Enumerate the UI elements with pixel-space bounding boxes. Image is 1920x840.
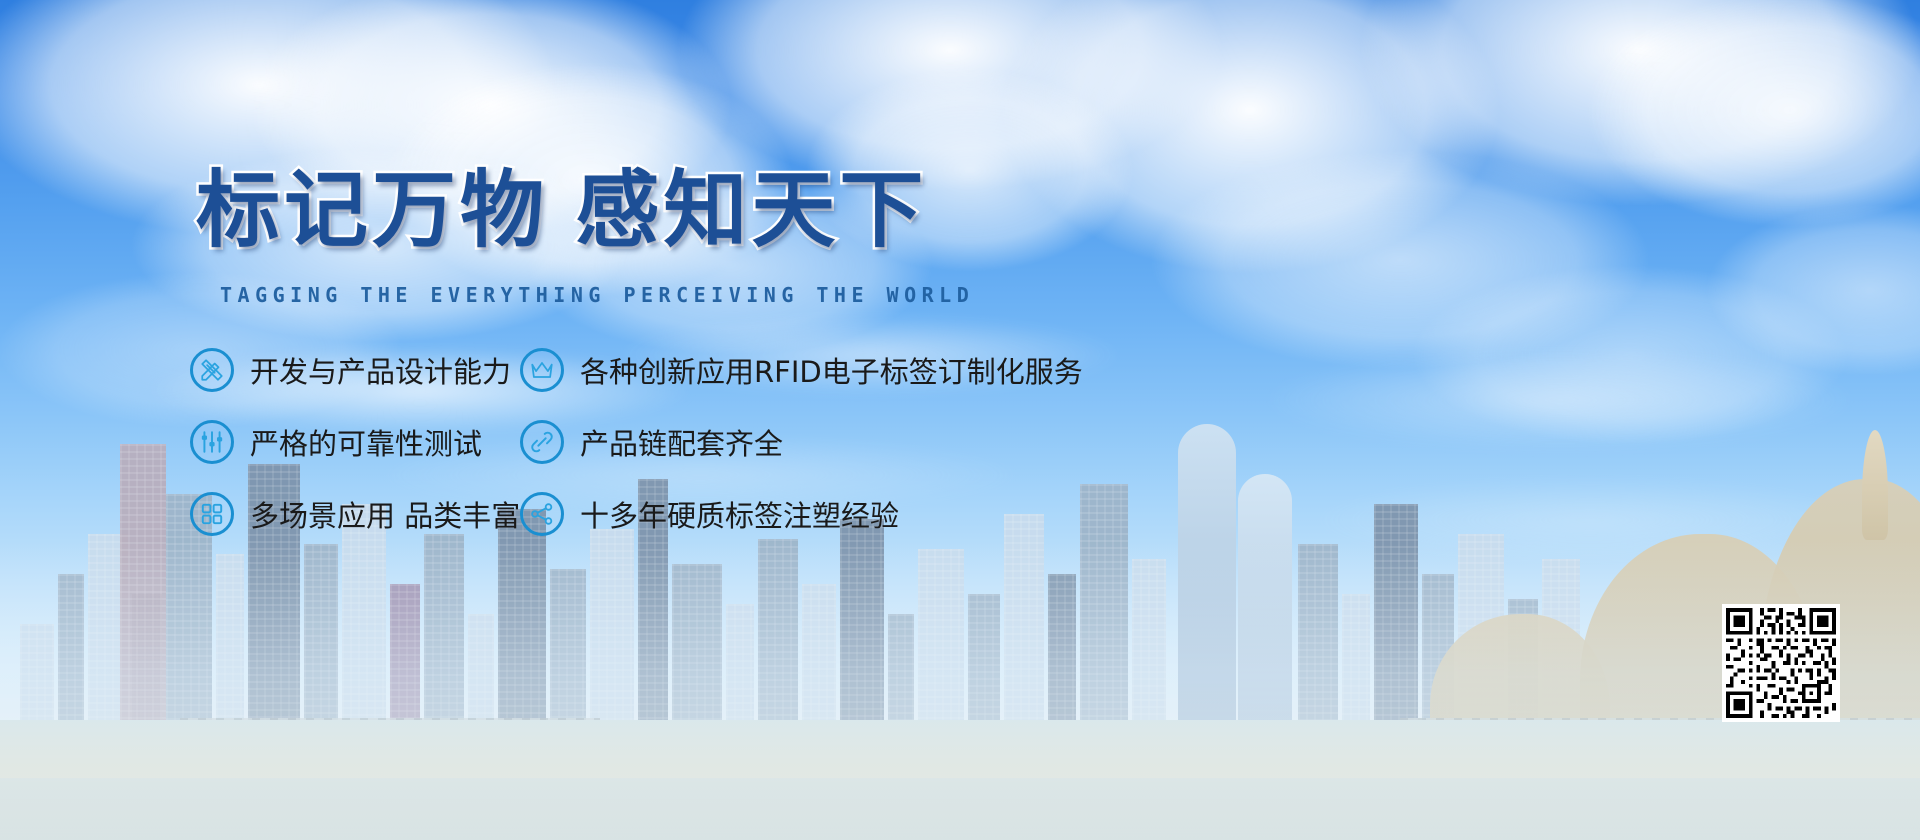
feature-item-development[interactable]: 开发与产品设计能力 xyxy=(190,348,520,392)
banner-content: 标记万物 感知天下 TAGGING THE EVERYTHING PERCEIV… xyxy=(0,0,1920,840)
pencil-ruler-icon xyxy=(190,348,234,392)
feature-label: 十多年硬质标签注塑经验 xyxy=(580,493,899,535)
share-nodes-icon xyxy=(520,492,564,536)
page-subtitle: TAGGING THE EVERYTHING PERCEIVING THE WO… xyxy=(220,283,974,307)
feature-item-reliability-test[interactable]: 严格的可靠性测试 xyxy=(190,420,520,464)
sliders-icon xyxy=(190,420,234,464)
qr-code[interactable] xyxy=(1722,604,1840,722)
feature-label: 严格的可靠性测试 xyxy=(250,421,482,463)
feature-label: 多场景应用 品类丰富 xyxy=(250,493,520,535)
feature-item-injection-experience[interactable]: 十多年硬质标签注塑经验 xyxy=(520,492,899,536)
feature-row: 严格的可靠性测试 产品链配套齐全 xyxy=(190,420,1290,464)
feature-item-product-chain[interactable]: 产品链配套齐全 xyxy=(520,420,783,464)
link-icon xyxy=(520,420,564,464)
feature-label: 各种创新应用RFID电子标签订制化服务 xyxy=(580,349,1083,391)
feature-item-multi-scenario[interactable]: 多场景应用 品类丰富 xyxy=(190,492,520,536)
grid-icon xyxy=(190,492,234,536)
feature-item-rfid-service[interactable]: 各种创新应用RFID电子标签订制化服务 xyxy=(520,348,1083,392)
page-title: 标记万物 感知天下 xyxy=(196,168,927,252)
crown-icon xyxy=(520,348,564,392)
qr-code-image xyxy=(1726,608,1836,718)
feature-label: 产品链配套齐全 xyxy=(580,421,783,463)
feature-list: 开发与产品设计能力 各种创新应用RFID电子标签订制化服务 xyxy=(190,348,1290,564)
promo-banner: 标记万物 感知天下 TAGGING THE EVERYTHING PERCEIV… xyxy=(0,0,1920,840)
feature-row: 开发与产品设计能力 各种创新应用RFID电子标签订制化服务 xyxy=(190,348,1290,392)
feature-label: 开发与产品设计能力 xyxy=(250,349,511,391)
feature-row: 多场景应用 品类丰富 十多年硬质标签注塑经验 xyxy=(190,492,1290,536)
